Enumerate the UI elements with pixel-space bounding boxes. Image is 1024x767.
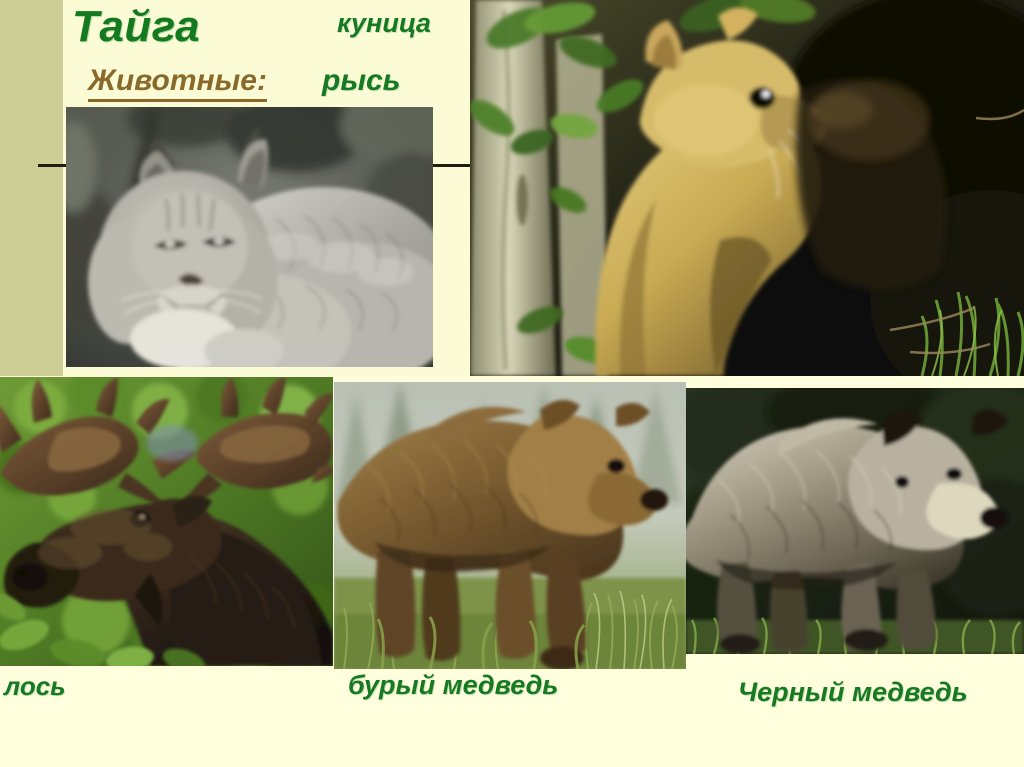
section-subtitle: Животные: bbox=[88, 64, 267, 102]
label-brown-bear: бурый медведь bbox=[348, 670, 558, 701]
brown-bear-photo bbox=[334, 382, 686, 669]
label-moose: лось bbox=[4, 671, 66, 702]
moose-photo bbox=[0, 377, 333, 666]
divider-rule-left bbox=[38, 164, 68, 167]
label-black-bear: Черный медведь bbox=[738, 677, 968, 708]
marten-photo bbox=[470, 0, 1024, 376]
black-bear-photo bbox=[686, 388, 1024, 654]
slide-canvas: Тайга Животные: куница рысь лось бурый м… bbox=[0, 0, 1024, 767]
label-lynx: рысь bbox=[322, 64, 400, 98]
page-title: Тайга bbox=[72, 2, 200, 52]
lynx-photo bbox=[66, 107, 433, 367]
left-sidebar-strip bbox=[0, 0, 63, 376]
label-marten: куница bbox=[337, 8, 431, 39]
